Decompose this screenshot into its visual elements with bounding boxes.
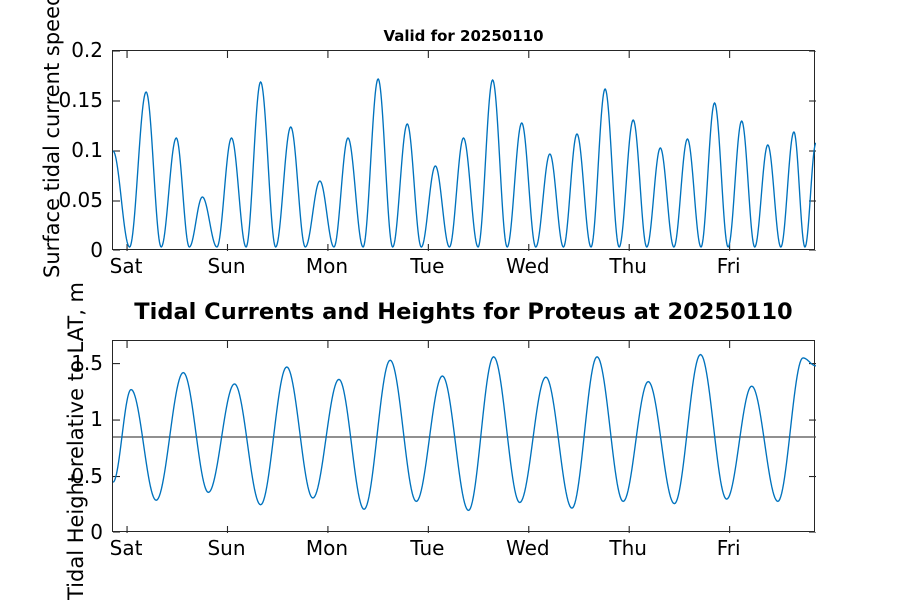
x-tick-label: Tue xyxy=(410,256,444,276)
y-tick-label: 0.5 xyxy=(0,466,103,486)
x-tick-label: Sun xyxy=(207,256,245,276)
x-tick-label: Mon xyxy=(306,256,348,276)
current-speed-line xyxy=(113,79,816,247)
x-tick-label: Mon xyxy=(306,538,348,558)
y-tick-label: 0.1 xyxy=(0,140,103,160)
y-tick-label: 0.05 xyxy=(0,190,103,210)
y-tick-label: 0 xyxy=(0,240,103,260)
y-tick-label: 1.5 xyxy=(0,353,103,373)
y-tick-label: 0 xyxy=(0,522,103,542)
tidal-height-axes xyxy=(112,340,815,532)
top-chart-title: Valid for 20250110 xyxy=(112,27,815,45)
y-tick-label: 1 xyxy=(0,409,103,429)
tidal-height-plot xyxy=(113,341,816,533)
figure-main-title: Tidal Currents and Heights for Proteus a… xyxy=(112,299,815,325)
x-tick-label: Thu xyxy=(609,256,647,276)
current-speed-plot xyxy=(113,51,816,251)
x-tick-label: Wed xyxy=(506,256,550,276)
tidal-height-line xyxy=(113,355,816,511)
x-tick-label: Sat xyxy=(110,256,143,276)
x-tick-label: Fri xyxy=(717,256,741,276)
x-tick-label: Tue xyxy=(410,538,444,558)
y-tick-label: 0.15 xyxy=(0,90,103,110)
x-tick-label: Fri xyxy=(717,538,741,558)
tidal-figure: Surface tidal current speed, kn Tidal He… xyxy=(0,0,900,600)
bottom-chart-y-axis-label: Tidal Height relative to LAT, m xyxy=(64,282,88,600)
x-tick-label: Sat xyxy=(110,538,143,558)
x-tick-label: Thu xyxy=(609,538,647,558)
x-tick-label: Sun xyxy=(207,538,245,558)
current-speed-axes xyxy=(112,50,815,250)
x-tick-label: Wed xyxy=(506,538,550,558)
y-tick-label: 0.2 xyxy=(0,40,103,60)
